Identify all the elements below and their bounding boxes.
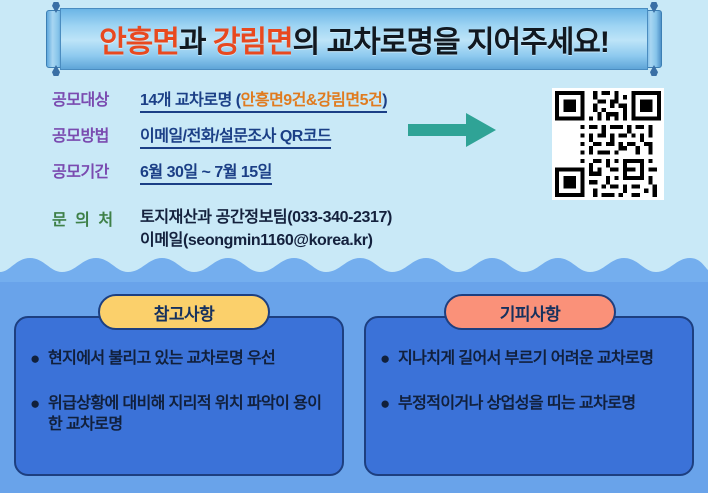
info-value: 6월 30일 ~ 7월 15일 — [140, 158, 272, 185]
qr-code-icon[interactable] — [552, 88, 664, 200]
info-row-method: 공모방법 이메일/전화/설문조사 QR코드 — [52, 122, 387, 149]
info-label: 공모방법 — [52, 122, 140, 146]
bottom-section: 참고사항 ● 현지에서 불리고 있는 교차로명 우선 ● 위급상황에 대비해 지… — [0, 282, 708, 493]
info-value-pre: 14개 교차로명 ( — [140, 92, 241, 109]
bullet-dot-icon: ● — [30, 348, 48, 371]
pin-icon — [52, 65, 60, 76]
bullet-text: 위급상황에 대비해 지리적 위치 파악이 용이한 교차로명 — [48, 393, 332, 436]
contact-phone-line: 토지재산과 공간정보팀(033-340-2317) — [140, 206, 392, 229]
pin-icon — [650, 65, 658, 76]
title-highlight-anheung: 안흥면 — [99, 26, 179, 59]
list-item: ● 부정적이거나 상업성을 띠는 교차로명 — [380, 393, 682, 416]
banner-body: 안흥면과 강림면의 교차로명을 지어주세요! — [60, 8, 648, 70]
contact-values: 토지재산과 공간정보팀(033-340-2317) 이메일(seongmin11… — [140, 206, 392, 252]
title-highlight-gangrim: 강림면 — [213, 26, 293, 59]
info-row-target: 공모대상 14개 교차로명 (안흥면9건&강림면5건) — [52, 86, 387, 113]
info-value-post: ) — [382, 92, 387, 109]
bullet-dot-icon: ● — [30, 393, 48, 436]
list-item: ● 지나치게 길어서 부르기 어려운 교차로명 — [380, 348, 682, 371]
bullet-text: 현지에서 불리고 있는 교차로명 우선 — [48, 348, 275, 371]
pin-icon — [650, 2, 658, 13]
contact-label: 문 의 처 — [52, 206, 140, 230]
bullet-dot-icon: ● — [380, 393, 398, 416]
info-label: 공모기간 — [52, 158, 140, 182]
title-connector: 과 — [179, 26, 213, 59]
info-value: 이메일/전화/설문조사 QR코드 — [140, 122, 331, 149]
bullet-dot-icon: ● — [380, 348, 398, 371]
banner: 안흥면과 강림면의 교차로명을 지어주세요! — [46, 8, 662, 70]
panel-heading-notes: 참고사항 — [98, 294, 270, 330]
bullet-text: 부정적이거나 상업성을 띠는 교차로명 — [398, 393, 635, 416]
title-tail: 의 교차로명을 지어주세요! — [293, 26, 609, 59]
panel-notes: 참고사항 ● 현지에서 불리고 있는 교차로명 우선 ● 위급상황에 대비해 지… — [14, 316, 344, 476]
pin-icon — [52, 2, 60, 13]
bullet-list-avoid: ● 지나치게 길어서 부르기 어려운 교차로명 ● 부정적이거나 상업성을 띠는… — [380, 348, 682, 438]
info-label: 공모대상 — [52, 86, 140, 110]
list-item: ● 위급상황에 대비해 지리적 위치 파악이 용이한 교차로명 — [30, 393, 332, 436]
info-value-org: 안흥면9건&강림면5건 — [241, 92, 383, 109]
info-row-period: 공모기간 6월 30일 ~ 7월 15일 — [52, 158, 387, 185]
info-value: 14개 교차로명 (안흥면9건&강림면5건) — [140, 86, 387, 113]
top-section: 안흥면과 강림면의 교차로명을 지어주세요! 공모대상 14개 교차로명 (안흥… — [0, 0, 708, 282]
bullet-list-notes: ● 현지에서 불리고 있는 교차로명 우선 ● 위급상황에 대비해 지리적 위치… — [30, 348, 332, 458]
info-list: 공모대상 14개 교차로명 (안흥면9건&강림면5건) 공모방법 이메일/전화/… — [52, 86, 387, 194]
bullet-text: 지나치게 길어서 부르기 어려운 교차로명 — [398, 348, 653, 371]
contact-email-line: 이메일(seongmin1160@korea.kr) — [140, 229, 392, 252]
contact-block: 문 의 처 토지재산과 공간정보팀(033-340-2317) 이메일(seon… — [52, 206, 392, 252]
right-arrow-icon — [408, 113, 496, 147]
panel-heading-avoid: 기피사항 — [444, 294, 616, 330]
list-item: ● 현지에서 불리고 있는 교차로명 우선 — [30, 348, 332, 371]
panel-avoid: 기피사항 ● 지나치게 길어서 부르기 어려운 교차로명 ● 부정적이거나 상업… — [364, 316, 694, 476]
page-title: 안흥면과 강림면의 교차로명을 지어주세요! — [99, 17, 609, 61]
